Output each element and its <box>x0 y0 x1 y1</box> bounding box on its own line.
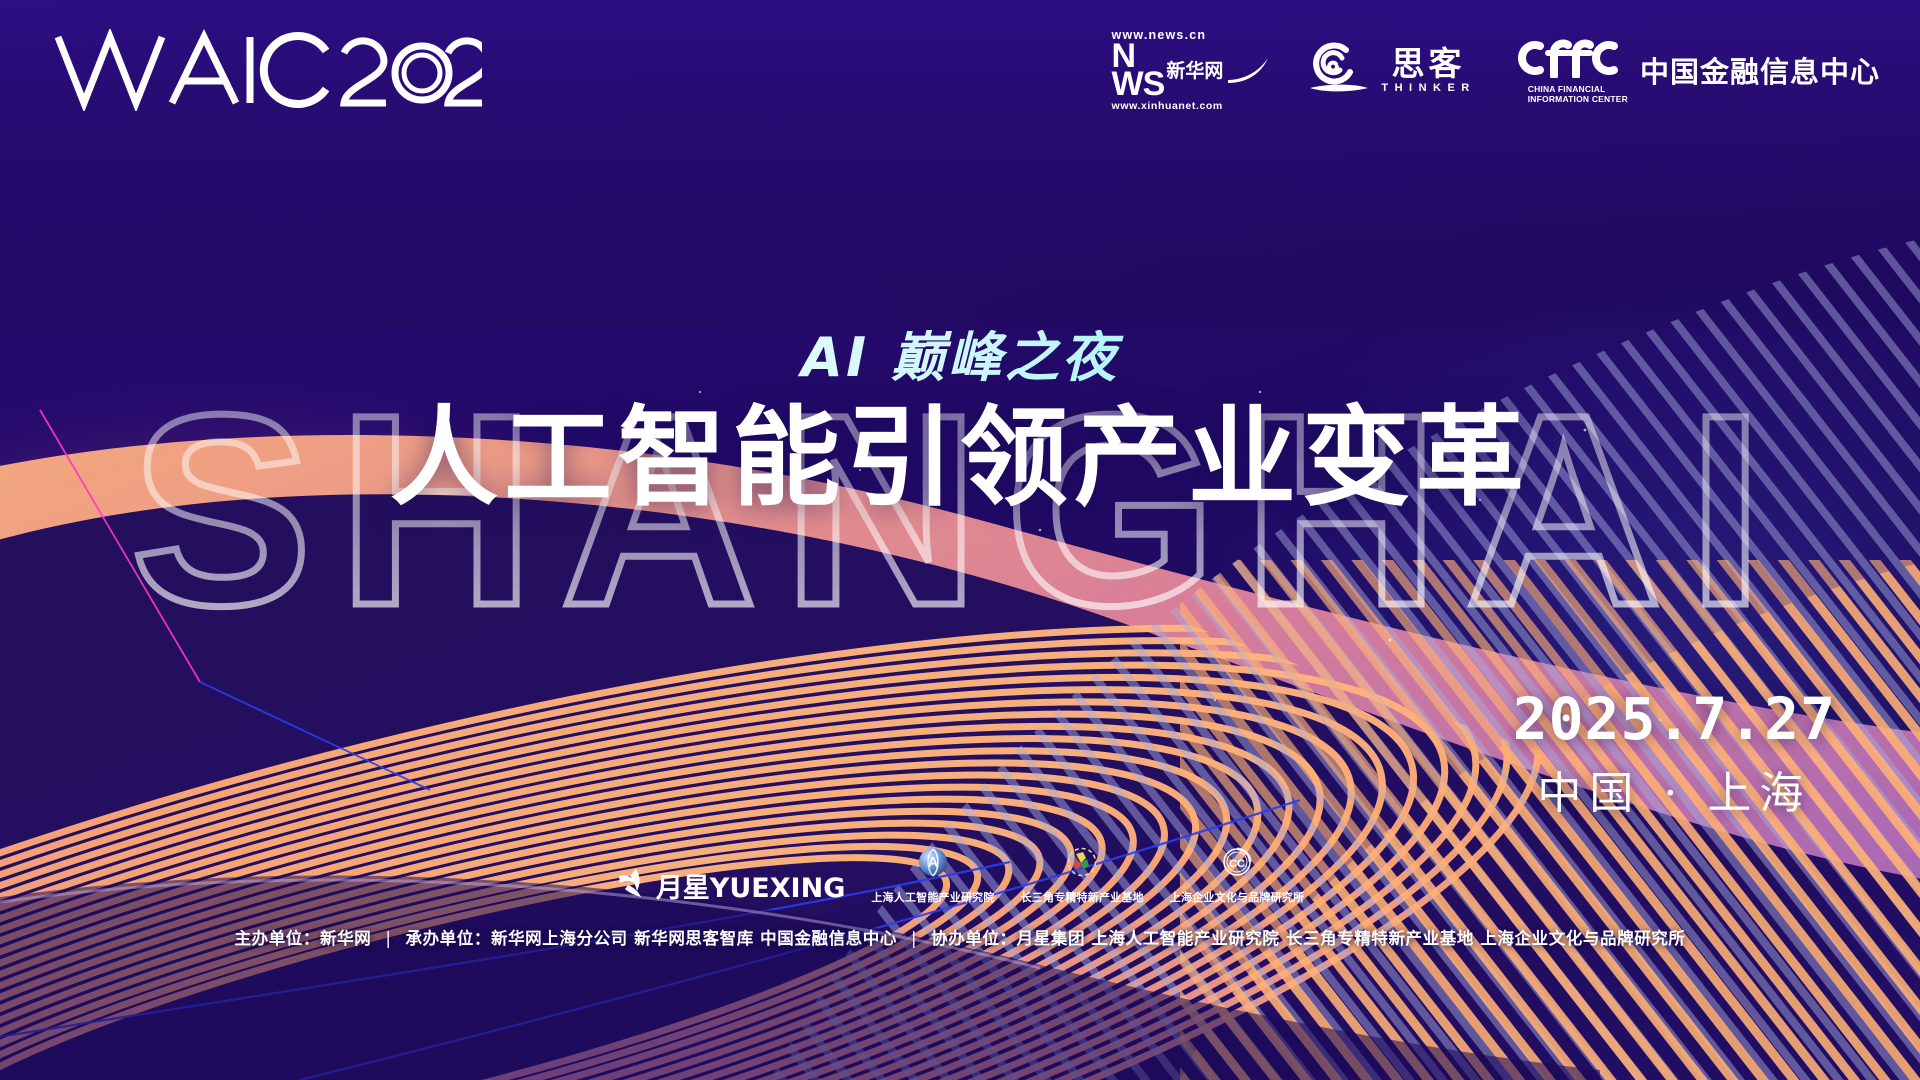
yrd-base-icon <box>1064 845 1100 886</box>
event-date: 2025.7.27 <box>1513 690 1836 748</box>
thinker-spiral-icon <box>1306 38 1372 103</box>
headline-block: AI 巅峰之夜 人工智能引领产业变革 <box>0 330 1920 520</box>
cfic-name-cn: 中国金融信息中心 <box>1640 49 1880 91</box>
event-subtitle: AI 巅峰之夜 <box>0 330 1920 387</box>
poster-header: www.news.cn N WS 新华网 www.xinh <box>0 0 1920 140</box>
saiiri-name: 上海人工智能产业研究院 <box>871 889 994 905</box>
partner-logo-group: www.news.cn N WS 新华网 www.xinh <box>1112 29 1880 112</box>
cfic-name-en-line2: INFORMATION CENTER <box>1528 94 1628 104</box>
credits-supporter: 协办单位：月星集团 上海人工智能产业研究院 长三角专精特新产业基地 上海企业文化… <box>931 929 1685 948</box>
saiiri-globe-icon: A <box>915 845 951 886</box>
partner-logo-thinker: 思客 THINKER <box>1306 38 1475 103</box>
yuexing-name: 月星YUEXING <box>656 866 846 905</box>
sponsor-logo-yrd-base: 长三角专精特新产业基地 <box>1021 845 1144 905</box>
credits-separator-1: | <box>385 929 391 948</box>
xinhua-swoosh-icon <box>1226 54 1272 88</box>
secbri-seal-icon: CC <box>1219 845 1255 886</box>
sponsor-logo-row: 月星YUEXING A 上海人 <box>0 845 1920 905</box>
sponsor-logo-saiiri: A 上海人工智能产业研究院 <box>871 845 994 905</box>
thinker-name-cn: 思客 <box>1392 47 1466 80</box>
partner-logo-cfic: CHINA FINANCIAL INFORMATION CENTER 中国金融信… <box>1510 36 1880 104</box>
sponsor-logo-yuexing: 月星YUEXING <box>616 866 846 905</box>
sponsor-logo-secbri: CC 上海企业文化与品牌研究所 <box>1170 845 1304 905</box>
credits-separator-2: | <box>911 929 917 948</box>
xinhua-url-bottom: www.xinhuanet.com <box>1112 101 1223 112</box>
event-poster: SHANGHAI <box>0 0 1920 1080</box>
cfic-mark-icon <box>1510 36 1626 83</box>
svg-text:A: A <box>928 854 939 871</box>
yuexing-star-icon <box>616 867 650 904</box>
background-art <box>0 0 1920 1080</box>
event-title: 人工智能引领产业变革 <box>0 399 1920 520</box>
cfic-name-en: CHINA FINANCIAL INFORMATION CENTER <box>1528 84 1628 104</box>
xinhua-mark-ws: WS <box>1112 71 1165 99</box>
secbri-name: 上海企业文化与品牌研究所 <box>1170 889 1304 905</box>
svg-text:CC: CC <box>1229 858 1245 870</box>
waic-logo-mark <box>52 29 482 111</box>
credits-organizer: 主办单位：新华网 <box>235 929 372 948</box>
xinhua-mark: N WS <box>1112 43 1165 99</box>
yrd-base-name: 长三角专精特新产业基地 <box>1021 889 1144 905</box>
xinhua-name-cn: 新华网 <box>1166 62 1223 81</box>
credits-line: 主办单位：新华网|承办单位：新华网上海分公司 新华网思客智库 中国金融信息中心|… <box>0 925 1920 949</box>
cfic-name-en-line1: CHINA FINANCIAL <box>1528 84 1628 94</box>
partner-logo-xinhua-news: www.news.cn N WS 新华网 www.xinh <box>1112 29 1273 112</box>
waic-logo <box>52 29 482 111</box>
thinker-name-en: THINKER <box>1381 83 1475 94</box>
event-date-location: 2025.7.27 中国 · 上海 <box>1513 690 1836 816</box>
event-location: 中国 · 上海 <box>1513 772 1836 816</box>
credits-coorganizer: 承办单位：新华网上海分公司 新华网思客智库 中国金融信息中心 <box>405 929 897 948</box>
